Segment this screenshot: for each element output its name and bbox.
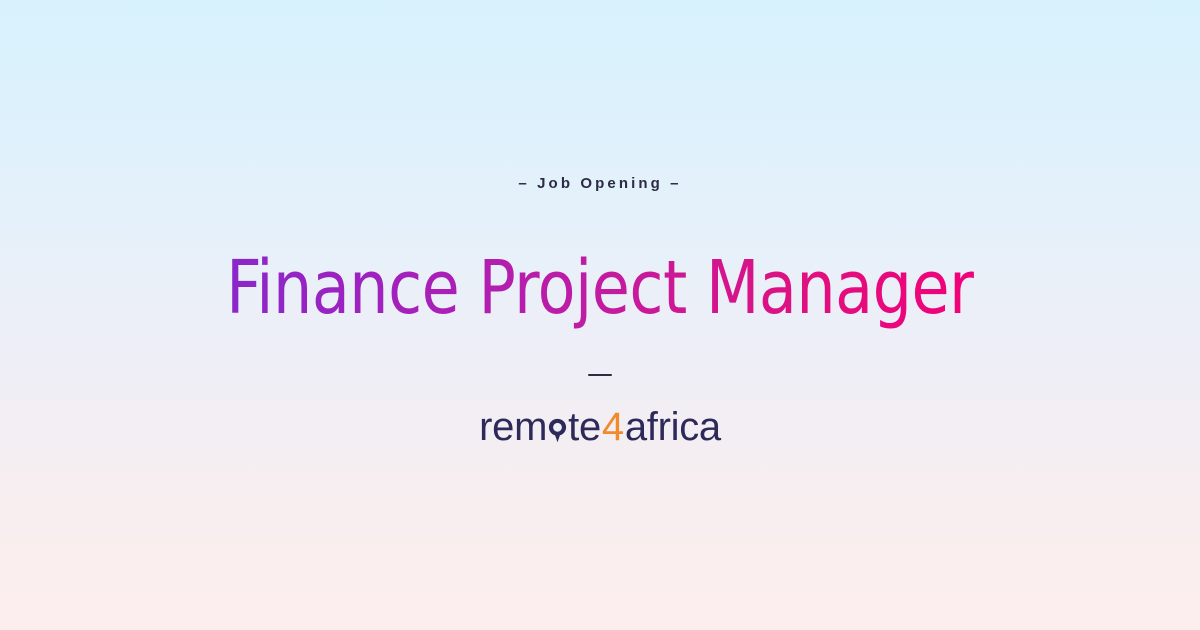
map-pin-icon: [548, 418, 567, 443]
logo-text-part-two: te: [568, 407, 601, 447]
kicker-label: – Job Opening –: [518, 175, 681, 192]
page-title: Finance Project Manager: [226, 247, 974, 330]
logo-numeral-four: 4: [601, 407, 625, 447]
brand-logo: rem te 4 africa: [479, 407, 721, 447]
divider: [588, 374, 612, 376]
job-opening-card: – Job Opening – Finance Project Manager …: [0, 0, 1200, 630]
logo-text-part-three: africa: [625, 407, 721, 447]
logo-text-part-one: rem: [479, 407, 547, 447]
